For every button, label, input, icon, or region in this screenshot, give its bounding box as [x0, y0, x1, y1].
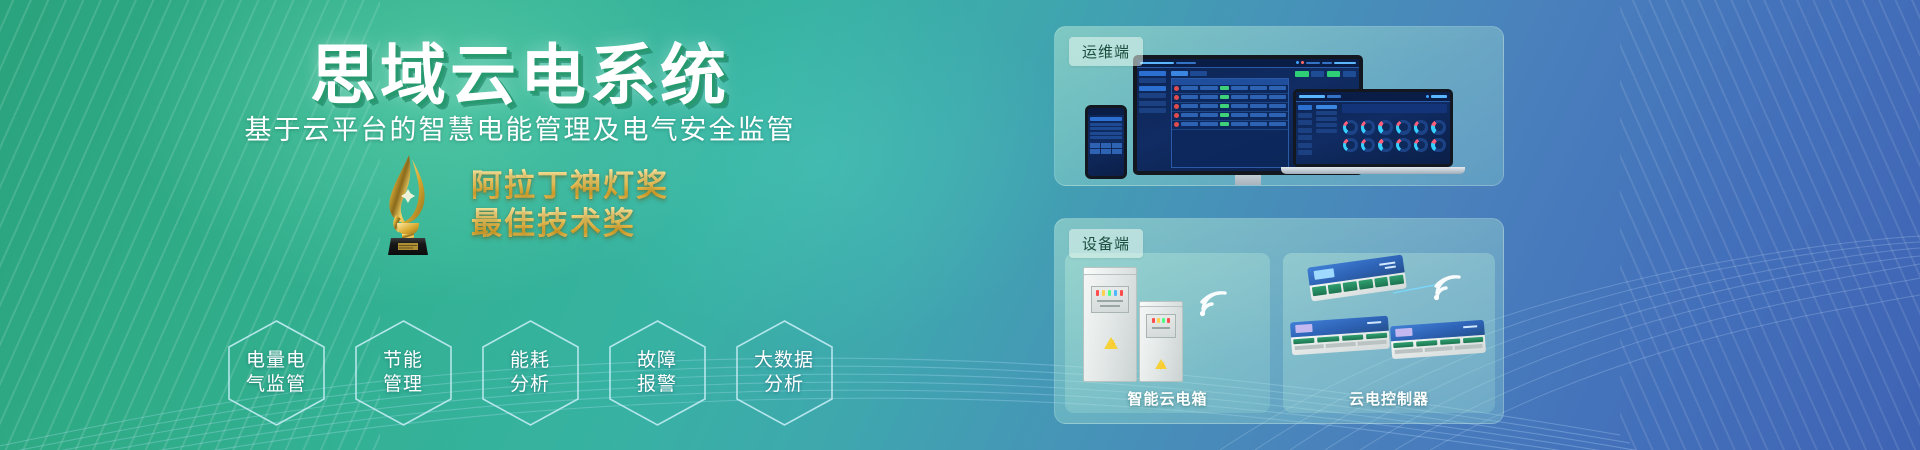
oam-panel: 运维端 — [1054, 26, 1504, 186]
device-panel-tag: 设备端 — [1069, 229, 1143, 258]
page-subtitle: 基于云平台的智慧电能管理及电气安全监管 — [0, 108, 1040, 147]
device-item-cabinet: 智能云电箱 — [1065, 253, 1270, 413]
left-content: 思域云电系统 基于云平台的智慧电能管理及电气安全监管 — [0, 0, 1040, 450]
cabinet-icon — [1083, 267, 1137, 382]
award-row: 阿拉丁神灯奖 最佳技术奖 — [0, 150, 1040, 260]
feature-hex-1[interactable]: 节能管理 — [351, 318, 456, 428]
wifi-icon — [1195, 287, 1229, 317]
device-panel: 设备端 — [1054, 218, 1504, 424]
cabinet-small-icon — [1139, 301, 1183, 382]
feature-hexagons: 电量电气监管 节能管理 能耗分析 故障报警 大数据分析 — [0, 318, 1040, 428]
page-title: 思域云电系统 — [0, 22, 1040, 118]
feature-hex-4[interactable]: 大数据分析 — [732, 318, 837, 428]
feature-hex-label-3: 故障报警 — [614, 349, 700, 398]
feature-hex-label-2: 能耗分析 — [487, 349, 573, 398]
feature-hex-2[interactable]: 能耗分析 — [478, 318, 583, 428]
feature-hex-label-4: 大数据分析 — [741, 349, 827, 398]
device-label-cabinet: 智能云电箱 — [1065, 388, 1270, 409]
feature-hex-3[interactable]: 故障报警 — [605, 318, 710, 428]
feature-hex-label-0: 电量电气监管 — [233, 349, 319, 398]
signal-link-line — [1393, 283, 1437, 297]
right-content: 运维端 — [1040, 0, 1920, 450]
oam-panel-tag: 运维端 — [1069, 37, 1143, 66]
promo-banner: 思域云电系统 基于云平台的智慧电能管理及电气安全监管 — [0, 0, 1920, 450]
laptop-mockup — [1293, 89, 1453, 174]
device-label-controller: 云电控制器 — [1283, 388, 1495, 409]
feature-hex-0[interactable]: 电量电气监管 — [224, 318, 329, 428]
phone-mockup — [1085, 105, 1127, 179]
award-line-2: 最佳技术奖 — [471, 205, 669, 243]
award-line-1: 阿拉丁神灯奖 — [471, 167, 669, 205]
device-item-controller: 云电控制器 — [1283, 253, 1495, 413]
feature-hex-label-1: 节能管理 — [360, 349, 446, 398]
controller-icon-3 — [1390, 320, 1486, 359]
trophy-icon — [371, 151, 445, 259]
controller-icon-2 — [1290, 316, 1390, 356]
controller-icon — [1307, 254, 1407, 301]
award-text: 阿拉丁神灯奖 最佳技术奖 — [471, 167, 669, 243]
